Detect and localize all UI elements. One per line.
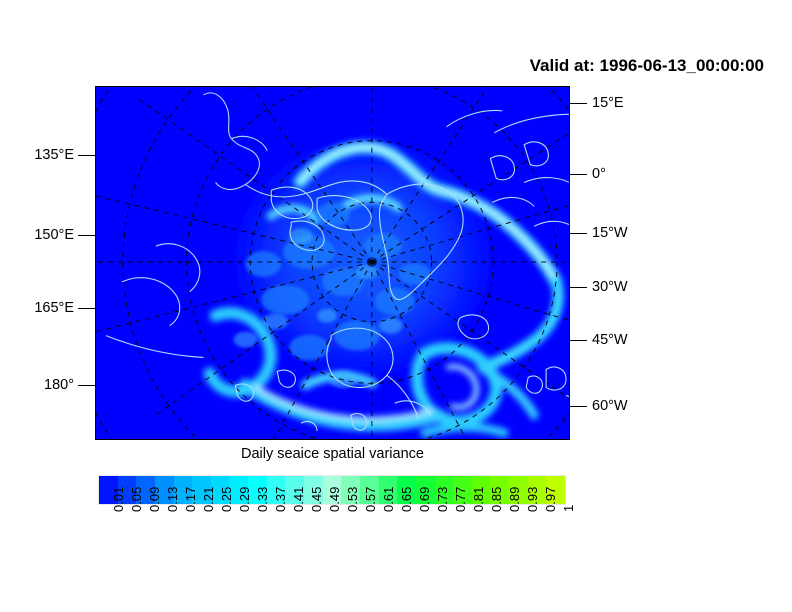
tick-left-0 xyxy=(78,155,95,156)
axis-label-left-2: 165°E xyxy=(0,301,74,316)
colorbar-tick-label: 0.17 xyxy=(184,487,197,512)
colorbar-tick-label: 0.25 xyxy=(220,487,233,512)
colorbar-tick-label: 0.37 xyxy=(274,487,287,512)
tick-left-3 xyxy=(78,385,95,386)
tick-right-2 xyxy=(570,233,587,234)
tick-right-5 xyxy=(570,406,587,407)
axis-label-right-2: 15°W xyxy=(592,226,628,241)
map-plot-area xyxy=(95,86,570,440)
axis-label-left-1: 150°E xyxy=(0,228,74,243)
colorbar-caption: Daily seaice spatial variance xyxy=(95,446,570,462)
colorbar-tick-label: 0.77 xyxy=(454,487,467,512)
tick-right-0 xyxy=(570,103,587,104)
axis-label-right-5: 60°W xyxy=(592,399,628,414)
colorbar-tick-label: 0.93 xyxy=(526,487,539,512)
colorbar-tick-label: 0.49 xyxy=(328,487,341,512)
colorbar-tick-label: 0.45 xyxy=(310,487,323,512)
axis-label-right-4: 45°W xyxy=(592,333,628,348)
page-title: Valid at: 1996-06-13_00:00:00 xyxy=(0,56,764,76)
axis-label-left-3: 180° xyxy=(0,378,74,393)
axis-label-right-1: 0° xyxy=(592,167,606,182)
colorbar-tick-label: 0.33 xyxy=(256,487,269,512)
colorbar-tick-label: 0.05 xyxy=(130,487,143,512)
colorbar-tick-label: 1 xyxy=(562,505,575,512)
tick-right-3 xyxy=(570,287,587,288)
map-canvas xyxy=(96,87,569,439)
colorbar-tick-label: 0.53 xyxy=(346,487,359,512)
axis-label-left-0: 135°E xyxy=(0,148,74,163)
tick-right-4 xyxy=(570,340,587,341)
colorbar-tick-label: 0.97 xyxy=(544,487,557,512)
colorbar-tick-label: 0.13 xyxy=(166,487,179,512)
axis-label-right-0: 15°E xyxy=(592,96,624,111)
colorbar-tick-label: 0.01 xyxy=(112,487,125,512)
tick-left-2 xyxy=(78,308,95,309)
colorbar-tick-label: 0.57 xyxy=(364,487,377,512)
colorbar-tick-label: 0.61 xyxy=(382,487,395,512)
colorbar-tick-label: 0.85 xyxy=(490,487,503,512)
colorbar-tick-label: 0.21 xyxy=(202,487,215,512)
axis-label-right-3: 30°W xyxy=(592,280,628,295)
tick-right-1 xyxy=(570,174,587,175)
colorbar-tick-label: 0.81 xyxy=(472,487,485,512)
colorbar-tick-label: 0.09 xyxy=(148,487,161,512)
colorbar-tick-label: 0.89 xyxy=(508,487,521,512)
colorbar-tick-label: 0.65 xyxy=(400,487,413,512)
colorbar-tick-label: 0.69 xyxy=(418,487,431,512)
tick-left-1 xyxy=(78,235,95,236)
colorbar-tick-label: 0.29 xyxy=(238,487,251,512)
colorbar-tick-label: 0.41 xyxy=(292,487,305,512)
colorbar-tick-label: 0.73 xyxy=(436,487,449,512)
